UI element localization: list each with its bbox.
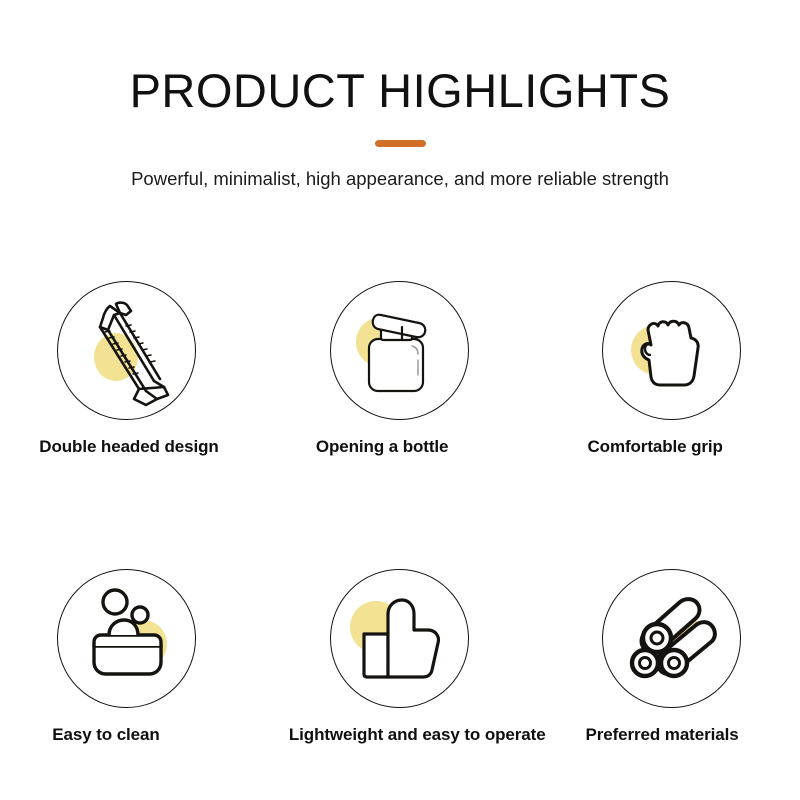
feature-icon-circle — [57, 281, 196, 420]
feature-icon-circle — [330, 569, 469, 708]
bottle-opener-icon — [331, 282, 469, 420]
feature-row: Double headed design — [0, 281, 800, 457]
feature-icon-circle — [602, 569, 741, 708]
feature-label: Double headed design — [39, 437, 218, 457]
product-highlights-page: PRODUCT HIGHLIGHTS Powerful, minimalist,… — [0, 0, 800, 800]
feature-label: Comfortable grip — [587, 437, 722, 457]
page-subtitle: Powerful, minimalist, high appearance, a… — [0, 168, 800, 190]
double-headed-wrench-icon — [58, 282, 196, 420]
feature-item[interactable]: Preferred materials — [533, 569, 800, 745]
feature-grid: Double headed design — [0, 281, 800, 744]
accent-divider — [375, 140, 426, 147]
wash-basin-icon — [58, 570, 196, 708]
page-title: PRODUCT HIGHLIGHTS — [0, 66, 800, 115]
feature-icon-circle — [57, 569, 196, 708]
feature-row: Easy to clean Lightweig — [0, 569, 800, 745]
feature-item[interactable]: Opening a bottle — [267, 281, 534, 457]
feature-label: Opening a bottle — [316, 437, 449, 457]
feature-label: Easy to clean — [52, 725, 159, 745]
feature-item-inner: Easy to clean — [40, 569, 220, 745]
accent-blob — [94, 333, 138, 381]
gripping-fist-icon — [603, 282, 741, 420]
feature-item-inner: Double headed design — [40, 281, 220, 457]
feature-item[interactable]: Double headed design — [0, 281, 267, 457]
divider-wrapper — [0, 140, 800, 147]
stacked-pipes-icon — [603, 570, 741, 708]
feature-item[interactable]: Lightweight and easy to operate — [267, 569, 534, 745]
feature-item[interactable]: Comfortable grip — [533, 281, 800, 457]
feature-item-inner: Preferred materials — [585, 569, 765, 745]
feature-icon-circle-wrap: Comfortable grip — [585, 281, 765, 457]
feature-item-inner: Opening a bottle — [313, 281, 493, 457]
feature-item[interactable]: Easy to clean — [0, 569, 267, 745]
feature-label: Preferred materials — [585, 725, 738, 745]
feature-icon-circle — [602, 281, 741, 420]
feature-label: Lightweight and easy to operate — [289, 725, 546, 745]
feature-icon-circle — [330, 281, 469, 420]
feature-item-inner: Lightweight and easy to operate — [313, 569, 493, 745]
thumbs-up-icon — [331, 570, 469, 708]
page-header: PRODUCT HIGHLIGHTS Powerful, minimalist,… — [0, 0, 800, 191]
